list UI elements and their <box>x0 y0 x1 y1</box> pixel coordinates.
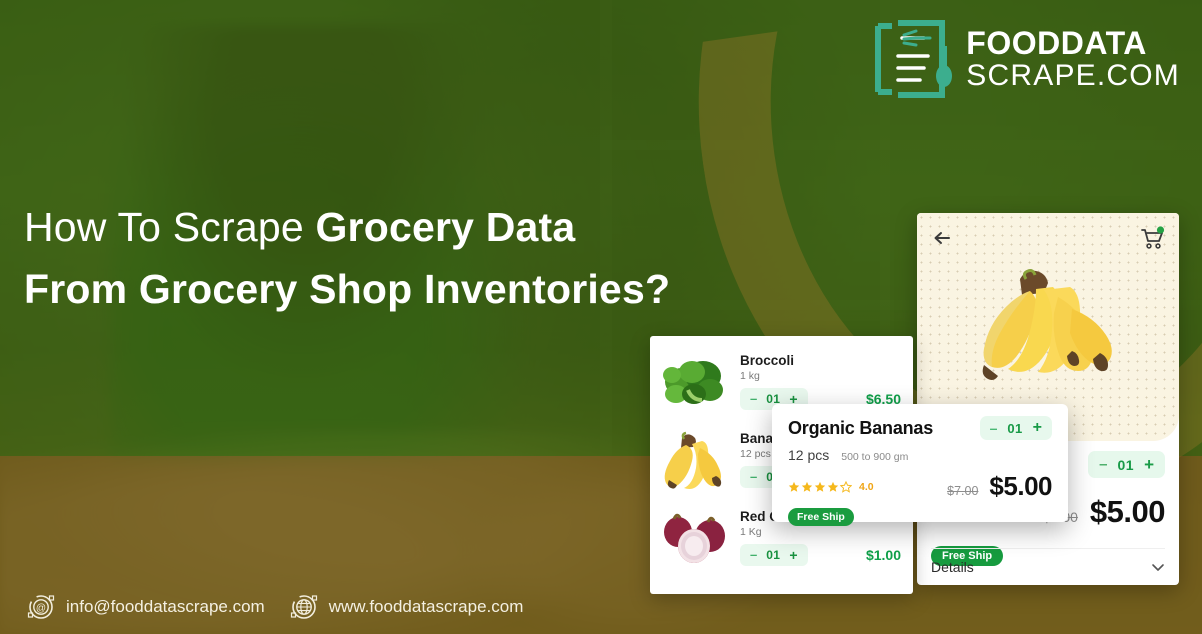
email-icon: @ <box>26 592 56 622</box>
logo-line-2: SCRAPE.COM <box>966 61 1180 91</box>
star-filled-icon <box>827 481 839 493</box>
list-item-controls: – 01 + $1.00 <box>740 544 901 566</box>
free-ship-badge: Free Ship <box>788 508 854 526</box>
details-label: Details <box>931 559 974 575</box>
decrement-button[interactable]: – <box>750 470 757 483</box>
decrement-button[interactable]: – <box>990 421 998 435</box>
product-unit: 1 kg <box>740 370 901 382</box>
globe-icon <box>289 592 319 622</box>
banana-thumb-icon <box>658 428 732 490</box>
popup-price-group: $7.00 $5.00 <box>947 471 1052 502</box>
brand-wordmark: FOODDATA SCRAPE.COM <box>966 27 1180 91</box>
banana-bunch-image <box>948 257 1148 407</box>
quantity-value: 01 <box>766 548 780 562</box>
decrement-button[interactable]: – <box>750 392 757 405</box>
headline-line-1: How To Scrape Grocery Data <box>24 196 670 258</box>
product-detail-panel: – 01 + $7.00 $5.00 Free Ship Details <box>917 213 1179 585</box>
increment-button[interactable]: + <box>1033 420 1042 436</box>
headline: How To Scrape Grocery Data From Grocery … <box>24 196 670 320</box>
product-popup-card: Organic Bananas – 01 + 12 pcs 500 to 900… <box>772 404 1068 522</box>
quantity-stepper[interactable]: – 01 + <box>980 416 1052 440</box>
quantity-value: 01 <box>1007 421 1022 436</box>
back-arrow-icon[interactable] <box>931 227 953 249</box>
chevron-down-icon[interactable] <box>1151 560 1165 574</box>
footer-email-text: info@fooddatascrape.com <box>66 597 265 617</box>
quantity-stepper[interactable]: – 01 + <box>1088 451 1165 478</box>
star-filled-icon <box>801 481 813 493</box>
product-price: $1.00 <box>866 547 901 563</box>
headline-line-2: From Grocery Shop Inventories? <box>24 258 670 320</box>
rating-stars: 4.0 <box>788 481 874 493</box>
broccoli-thumb-icon <box>658 350 732 412</box>
brand-logo: FOODDATA SCRAPE.COM <box>868 18 1180 100</box>
headline-line-1-light: How To Scrape <box>24 204 315 250</box>
list-item-info: Broccoli 1 kg – 01 + $6.50 <box>740 353 901 410</box>
rating-value: 4.0 <box>859 481 874 493</box>
footer-contact: @ info@fooddatascrape.com www.fooddatasc… <box>26 592 523 622</box>
quantity-value: 01 <box>1117 457 1134 473</box>
poster-canvas: FOODDATA SCRAPE.COM How To Scrape Grocer… <box>0 0 1202 634</box>
popup-meta: 12 pcs 500 to 900 gm <box>788 447 1052 463</box>
fooddata-logo-icon <box>868 18 952 100</box>
cart-icon[interactable] <box>1139 225 1165 251</box>
popup-header: Organic Bananas – 01 + <box>788 416 1052 440</box>
current-price: $5.00 <box>1090 494 1165 530</box>
popup-product-title: Organic Bananas <box>788 418 933 439</box>
decrement-button[interactable]: – <box>1099 457 1107 472</box>
decrement-button[interactable]: – <box>750 548 757 561</box>
star-filled-icon <box>788 481 800 493</box>
logo-line-1: FOODDATA <box>966 27 1180 59</box>
footer-email-item[interactable]: @ info@fooddatascrape.com <box>26 592 265 622</box>
popup-pieces: 12 pcs <box>788 447 829 463</box>
star-empty-icon <box>840 481 852 493</box>
popup-rating-price-row: 4.0 $7.00 $5.00 <box>788 471 1052 502</box>
headline-line-1-bold: Grocery Data <box>315 204 575 250</box>
popup-weight: 500 to 900 gm <box>841 451 908 463</box>
quantity-stepper[interactable]: – 01 + <box>740 544 808 566</box>
footer-website-item[interactable]: www.fooddatascrape.com <box>289 592 524 622</box>
original-price: $7.00 <box>947 484 978 498</box>
increment-button[interactable]: + <box>1144 456 1154 473</box>
increment-button[interactable]: + <box>789 548 797 562</box>
footer-website-text: www.fooddatascrape.com <box>329 597 524 617</box>
svg-text:@: @ <box>36 603 46 614</box>
star-filled-icon <box>814 481 826 493</box>
product-name: Broccoli <box>740 353 901 368</box>
current-price: $5.00 <box>989 471 1052 502</box>
onion-thumb-icon <box>658 506 732 568</box>
details-accordion[interactable]: Details <box>931 548 1165 575</box>
product-unit: 1 Kg <box>740 526 901 538</box>
